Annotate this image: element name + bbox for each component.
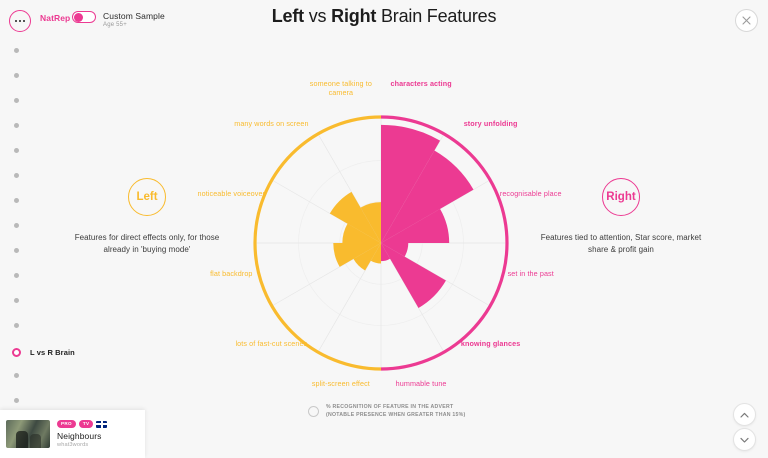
badge-pro: PRO <box>57 420 76 428</box>
rail-item-label: L vs R Brain <box>30 348 75 357</box>
legend-line-2: (NOTABLE PRESENCE WHEN GREATER THAN 15%) <box>326 412 466 420</box>
right-brain-description: Features tied to attention, Star score, … <box>536 232 706 257</box>
rail-dot <box>14 323 19 328</box>
petal-label: hummable tune <box>377 379 465 388</box>
rail-dot <box>14 273 19 278</box>
rail-item-0[interactable] <box>14 48 19 53</box>
page-title: Left vs Right Brain Features <box>0 6 768 27</box>
ad-card[interactable]: PRO TV Neighbours what3words <box>0 410 145 458</box>
rail-item-active[interactable]: L vs R Brain <box>14 348 75 357</box>
chevron-up-icon[interactable] <box>733 403 756 426</box>
petal-label: someone talking to camera <box>297 79 385 97</box>
rail-dot <box>14 48 19 53</box>
ad-brand: what3words <box>57 442 139 448</box>
rail-item-7[interactable] <box>14 223 19 228</box>
petal-label: recognisable place <box>487 189 575 198</box>
rail-item-13[interactable] <box>14 373 19 378</box>
petal-label: flat backdrop <box>187 269 275 278</box>
legend-text: % RECOGNITION OF FEATURE IN THE ADVERT (… <box>326 404 466 420</box>
legend-circle-icon <box>308 406 319 417</box>
rail-dot <box>14 98 19 103</box>
app-header: NatRep Custom Sample Age 55+ Left vs Rig… <box>0 0 768 38</box>
title-left: Left <box>272 6 304 26</box>
left-brain-badge: Left <box>128 178 166 216</box>
rail-dot <box>14 173 19 178</box>
rail-item-2[interactable] <box>14 98 19 103</box>
petal-label: lots of fast-cut scenes <box>227 339 315 348</box>
petal-label: characters acting <box>377 79 465 88</box>
rail-item-10[interactable] <box>14 298 19 303</box>
petal-label: knowing glances <box>447 339 535 348</box>
rail-item-8[interactable] <box>14 248 19 253</box>
rail-dot <box>12 348 21 357</box>
title-right: Right <box>331 6 376 26</box>
badge-tv: TV <box>79 420 93 428</box>
chevron-down-icon[interactable] <box>733 428 756 451</box>
ad-title: Neighbours <box>57 431 139 441</box>
rail-item-4[interactable] <box>14 148 19 153</box>
rail-item-5[interactable] <box>14 173 19 178</box>
app-root: NatRep Custom Sample Age 55+ Left vs Rig… <box>0 0 768 458</box>
rail-dot <box>14 298 19 303</box>
close-icon[interactable] <box>735 9 758 32</box>
polar-rose-chart: characters actingstory unfoldingrecognis… <box>211 98 551 398</box>
petal-label: story unfolding <box>447 119 535 128</box>
ad-badges: PRO TV <box>57 420 139 428</box>
rail-item-11[interactable] <box>14 323 19 328</box>
ad-card-info: PRO TV Neighbours what3words <box>57 420 139 448</box>
title-vs: vs <box>309 6 327 26</box>
title-rest: Brain Features <box>381 6 496 26</box>
uk-flag-icon <box>96 421 107 428</box>
rail-dot <box>14 223 19 228</box>
petal-label: split-screen effect <box>297 379 385 388</box>
rail-item-14[interactable] <box>14 398 19 403</box>
petal-label: set in the past <box>487 269 575 278</box>
rose-petal[interactable] <box>381 243 446 308</box>
legend-line-1: % RECOGNITION OF FEATURE IN THE ADVERT <box>326 404 466 412</box>
rail-dot <box>14 398 19 403</box>
rail-dot <box>14 198 19 203</box>
rail-dot <box>14 248 19 253</box>
chart-legend: % RECOGNITION OF FEATURE IN THE ADVERT (… <box>308 404 466 420</box>
petal-label: noticeable voiceover <box>187 189 275 198</box>
rose-chart-svg <box>211 98 551 398</box>
right-brain-badge: Right <box>602 178 640 216</box>
rail-item-1[interactable] <box>14 73 19 78</box>
rail-dot <box>14 373 19 378</box>
rail-dot <box>14 123 19 128</box>
rail-dot <box>14 73 19 78</box>
rail-item-3[interactable] <box>14 123 19 128</box>
ad-thumbnail[interactable] <box>6 420 50 448</box>
left-brain-description: Features for direct effects only, for th… <box>62 232 232 257</box>
rail-item-9[interactable] <box>14 273 19 278</box>
rail-item-6[interactable] <box>14 198 19 203</box>
rail-dot <box>14 148 19 153</box>
petal-label: many words on screen <box>227 119 315 128</box>
